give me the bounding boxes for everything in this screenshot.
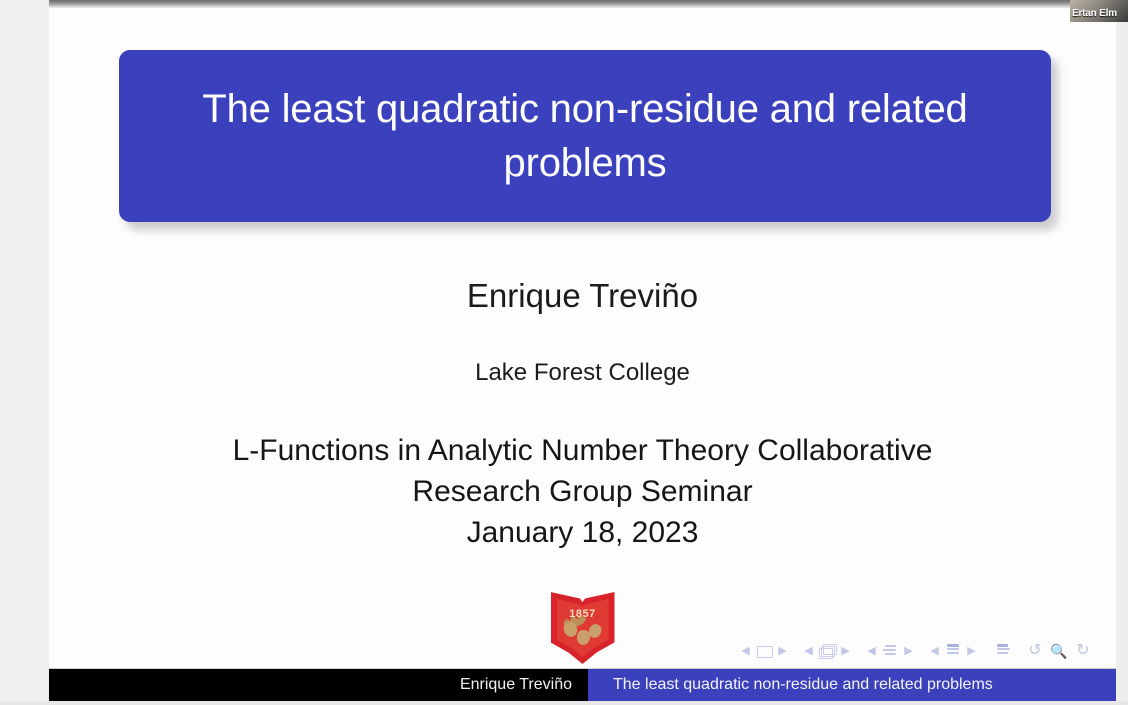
window-bottom-edge — [0, 701, 1128, 705]
slide-title: The least quadratic non-residue and rela… — [145, 82, 1025, 190]
next-section-icon[interactable]: ▶ — [902, 645, 915, 658]
footline-title: The least quadratic non-residue and rela… — [588, 669, 1116, 701]
slide-author: Enrique Treviño — [49, 277, 1116, 315]
next-slide-icon[interactable]: ▶ — [839, 645, 852, 658]
next-frame-icon[interactable]: ▶ — [776, 645, 789, 658]
prev-section-icon[interactable]: ◀ — [865, 645, 878, 658]
viewport-left-band — [0, 0, 49, 705]
next-subsection-icon[interactable]: ▶ — [965, 645, 978, 658]
subsection-icon[interactable] — [942, 642, 964, 660]
footline-author: Enrique Treviño — [49, 669, 588, 701]
participant-video-tile[interactable]: Ertan Elm — [1070, 0, 1128, 22]
slide-affiliation: Lake Forest College — [49, 359, 1116, 387]
prev-subsection-icon[interactable]: ◀ — [928, 645, 941, 658]
prev-frame-icon[interactable]: ◀ — [739, 645, 752, 658]
slide-title-panel: The least quadratic non-residue and rela… — [119, 50, 1051, 222]
frame-icon[interactable] — [753, 642, 775, 660]
venue-line-1: L-Functions in Analytic Number Theory Co… — [49, 430, 1116, 471]
lake-forest-crest-icon: 1857 — [551, 592, 615, 664]
slide-deck-nav-group[interactable]: ◀ ▶ — [802, 642, 852, 660]
participant-name-label: Ertan Elm — [1072, 8, 1117, 20]
beamer-navigation-bar[interactable]: ◀ ▶ ◀ ▶ ◀ ▶ ◀ — [739, 638, 1109, 664]
screen-root: The least quadratic non-residue and rela… — [0, 0, 1128, 705]
window-top-bar — [49, 0, 1128, 8]
venue-line-2: Research Group Seminar — [49, 471, 1116, 512]
slide-title-panel-inner: The least quadratic non-residue and rela… — [119, 50, 1051, 222]
slide-deck-icon[interactable] — [816, 642, 838, 660]
section-icon[interactable] — [879, 642, 901, 660]
subsection-nav-group[interactable]: ◀ ▶ — [928, 642, 978, 660]
venue-line-3: January 18, 2023 — [49, 512, 1116, 553]
back-icon[interactable]: ↺ — [1023, 642, 1047, 660]
viewport-right-band — [1116, 0, 1128, 705]
navigation-tools[interactable]: ↺ 🔍 ↻ — [1023, 642, 1095, 660]
prev-slide-icon[interactable]: ◀ — [802, 645, 815, 658]
slide-footline: Enrique Treviño The least quadratic non-… — [49, 668, 1116, 701]
presentation-slide: The least quadratic non-residue and rela… — [49, 6, 1116, 700]
section-nav-group[interactable]: ◀ ▶ — [865, 642, 915, 660]
frame-nav-group[interactable]: ◀ ▶ — [739, 642, 789, 660]
forward-icon[interactable]: ↻ — [1071, 642, 1095, 660]
crest-year: 1857 — [551, 608, 615, 620]
search-icon[interactable]: 🔍 — [1047, 642, 1071, 660]
slide-venue-block: L-Functions in Analytic Number Theory Co… — [49, 430, 1116, 553]
document-icon[interactable] — [992, 642, 1014, 660]
